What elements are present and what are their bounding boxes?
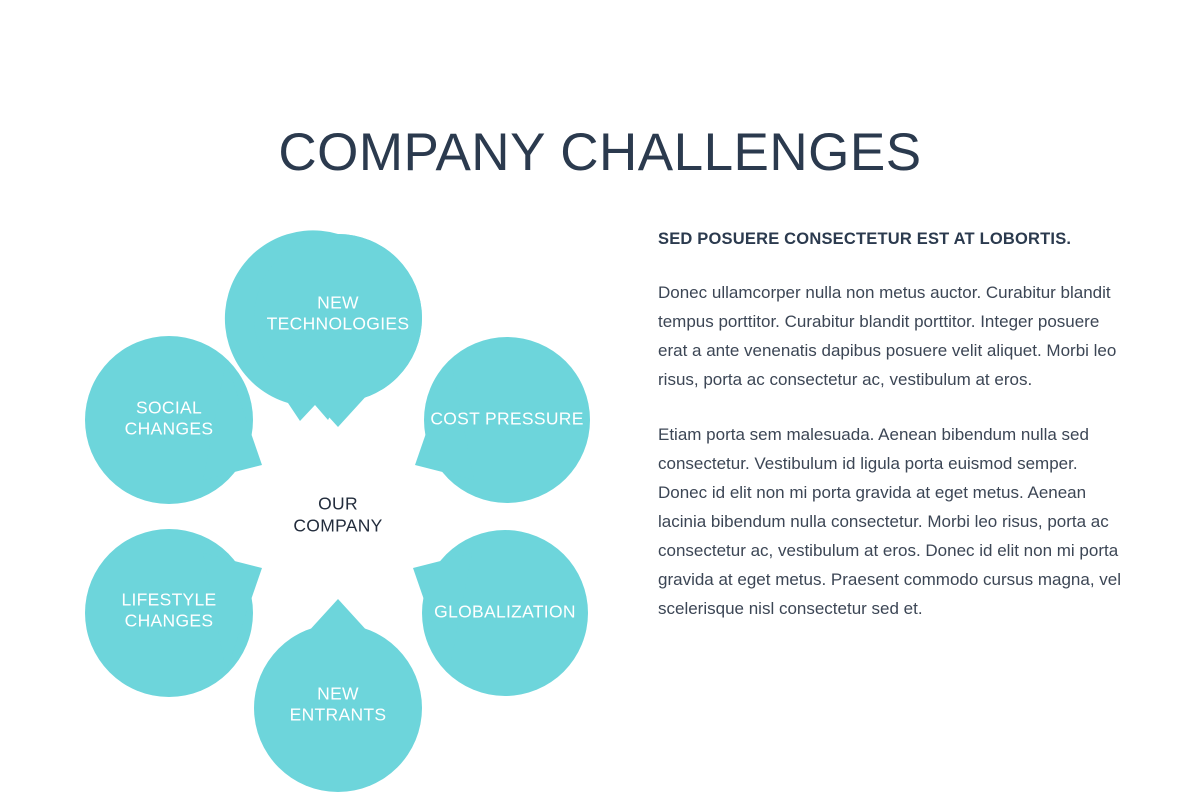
petal-diagram-svg: NEW TECHNOLOGIES COST PRESSURE GLOBALIZA… bbox=[60, 215, 630, 800]
petal-lifestyle-changes[interactable]: LIFESTYLE CHANGES bbox=[85, 529, 262, 697]
diagram-center-label-line2: COMPANY bbox=[293, 516, 382, 536]
petal-new-entrants-tail[interactable] bbox=[307, 599, 369, 633]
petal-social-changes-label-line1: SOCIAL bbox=[136, 398, 202, 418]
petal-lifestyle-changes-label-line2: CHANGES bbox=[125, 611, 214, 631]
petal-globalization[interactable]: GLOBALIZATION bbox=[413, 530, 588, 696]
petal-social-changes[interactable]: SOCIAL CHANGES bbox=[85, 336, 262, 504]
article-heading: SED POSUERE CONSECTETUR EST AT LOBORTIS. bbox=[658, 228, 1126, 250]
article-paragraph-1: Donec ullamcorper nulla non metus auctor… bbox=[658, 278, 1126, 394]
petal-new-entrants[interactable]: NEW ENTRANTS bbox=[254, 599, 422, 792]
article-paragraph-2: Etiam porta sem malesuada. Aenean bibend… bbox=[658, 420, 1126, 623]
petal-new-technologies-label-line2: TECHNOLOGIES bbox=[267, 314, 410, 334]
petal-new-entrants-label-line2: ENTRANTS bbox=[290, 705, 387, 725]
petal-new-technologies-tail[interactable] bbox=[307, 393, 369, 427]
petal-cost-pressure-label-line1: COST PRESSURE bbox=[430, 409, 583, 429]
petal-lifestyle-changes-label-line1: LIFESTYLE bbox=[121, 590, 216, 610]
petal-social-changes-label-line2: CHANGES bbox=[125, 419, 214, 439]
petal-new-technologies[interactable]: NEW TECHNOLOGIES bbox=[225, 230, 422, 427]
page-title: COMPANY CHALLENGES bbox=[0, 122, 1200, 184]
slide-canvas: COMPANY CHALLENGES NEW TECHNOLOGIES COST… bbox=[0, 0, 1200, 800]
company-challenges-diagram: NEW TECHNOLOGIES COST PRESSURE GLOBALIZA… bbox=[60, 215, 630, 800]
petal-globalization-label-line1: GLOBALIZATION bbox=[434, 602, 576, 622]
diagram-center-label-line1: OUR bbox=[318, 494, 358, 514]
petal-cost-pressure[interactable]: COST PRESSURE bbox=[415, 337, 590, 503]
petal-new-entrants-label-line1: NEW bbox=[317, 684, 359, 704]
diagram-center-label: OUR COMPANY bbox=[293, 494, 382, 536]
article-text-column: SED POSUERE CONSECTETUR EST AT LOBORTIS.… bbox=[658, 228, 1126, 623]
petal-new-technologies-label-line1: NEW bbox=[317, 293, 359, 313]
